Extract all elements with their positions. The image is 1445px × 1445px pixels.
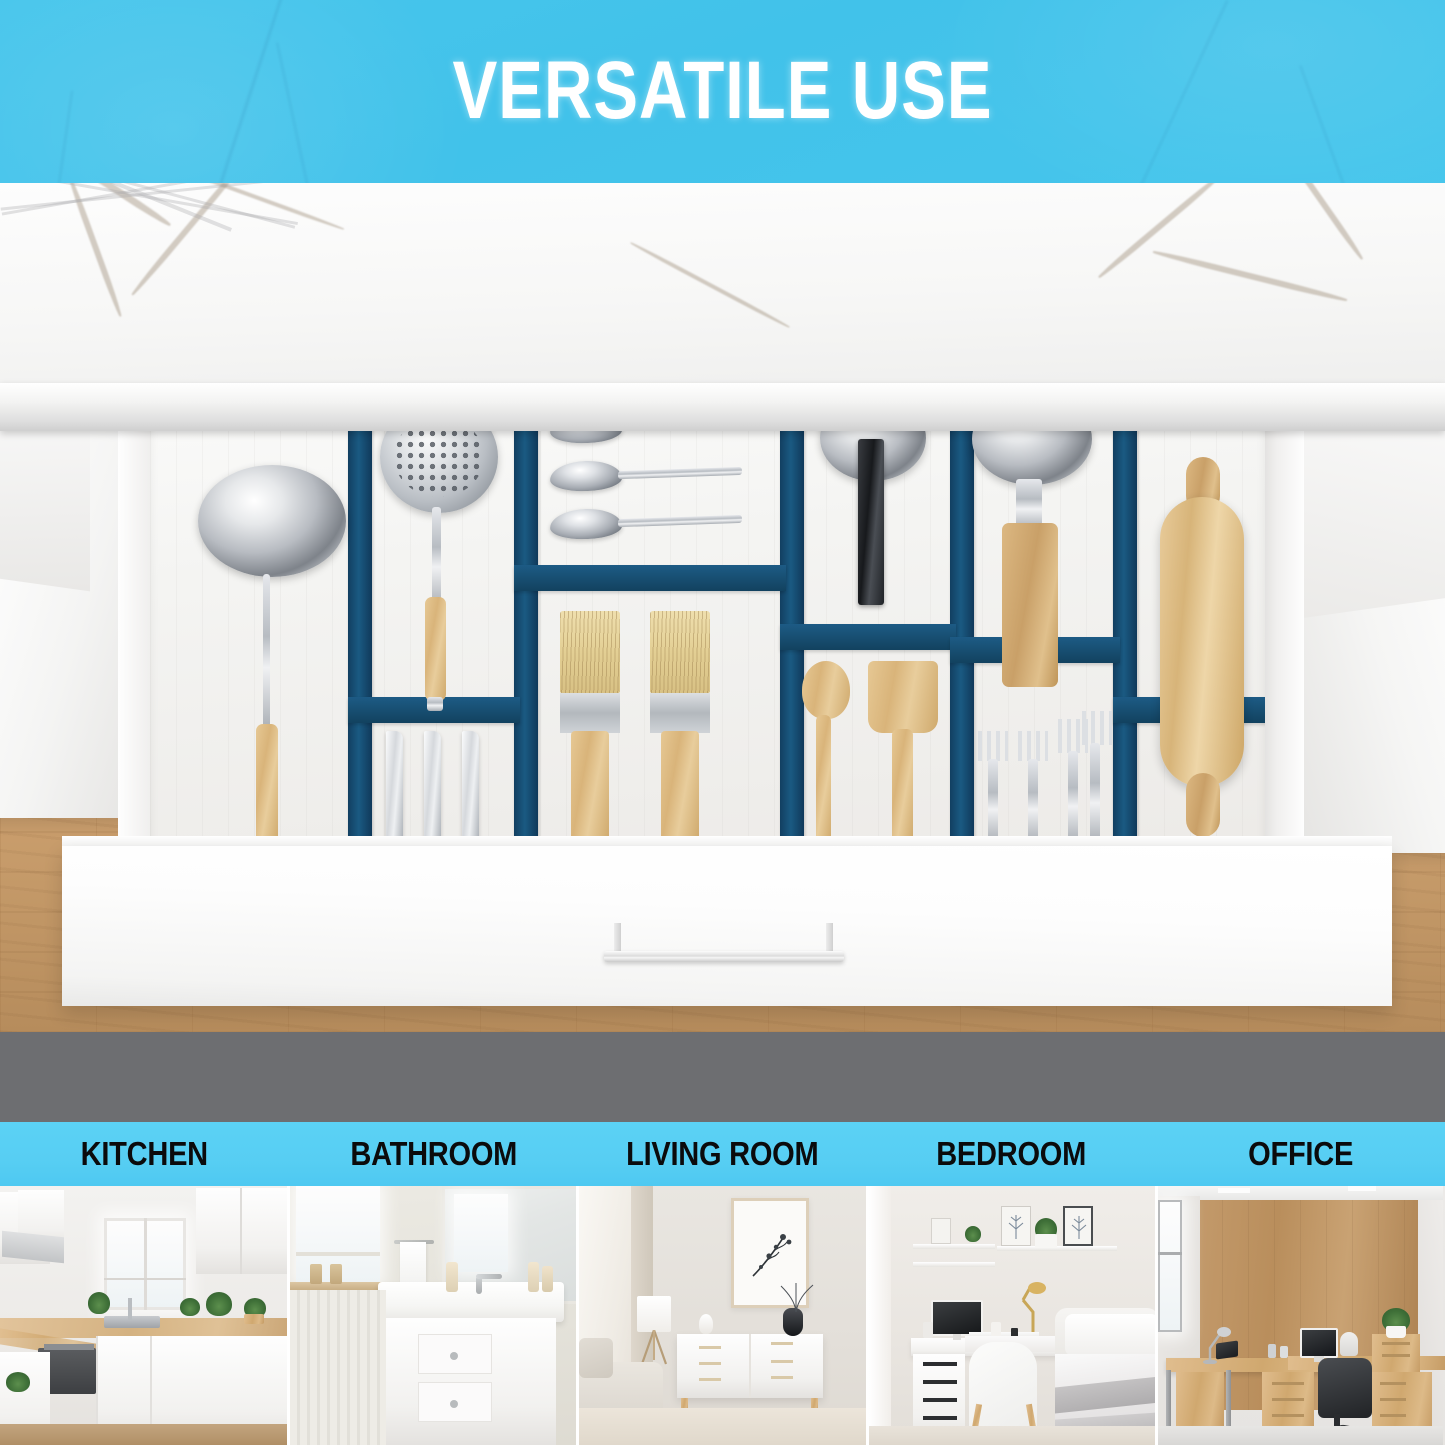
wooden-spatula-handle [892, 729, 913, 843]
hero-product-photo [0, 183, 1445, 1032]
skimmer-wood-grip [425, 597, 446, 701]
product-marketing-image: VERSATILE USE [0, 0, 1445, 1445]
knife-blade [424, 731, 441, 839]
marble-countertop [0, 183, 1445, 383]
basting-brush-handle [661, 731, 699, 843]
skimmer-end-cap [427, 697, 443, 711]
room-label-bathroom: BATHROOM [289, 1122, 578, 1186]
knife-blade [386, 731, 403, 839]
room-label-text: OFFICE [1248, 1135, 1353, 1173]
rolling-pin-knob-bottom [1186, 773, 1220, 837]
soup-ladle-neck [1016, 479, 1042, 529]
divider-vertical [780, 379, 804, 849]
room-label-text: LIVING ROOM [626, 1135, 818, 1173]
drawer-front-panel [62, 846, 1392, 1006]
room-label-strip: KITCHEN BATHROOM LIVING ROOM BEDROOM OFF… [0, 1122, 1445, 1186]
drawer-handle-post [826, 923, 833, 953]
basting-brush-bristles [560, 611, 620, 693]
room-label-text: BEDROOM [937, 1135, 1087, 1173]
room-label-text: KITCHEN [81, 1135, 208, 1173]
wooden-spatula-head [868, 661, 938, 733]
basting-brush-ferrule [560, 693, 620, 733]
countertop-edge [0, 383, 1445, 431]
soup-ladle-wood-grip [1002, 523, 1058, 687]
wooden-spoon-head [802, 661, 850, 719]
divider-vertical [950, 379, 974, 849]
room-photo-row [0, 1186, 1445, 1445]
room-label-office: OFFICE [1156, 1122, 1445, 1186]
divider-vertical [1113, 379, 1137, 849]
header-title: VERSATILE USE [130, 50, 1315, 132]
fork-tines [1082, 711, 1112, 745]
knife-blade [462, 731, 479, 839]
marble-vein [49, 91, 73, 183]
wooden-spoon-handle [816, 715, 831, 843]
room-label-kitchen: KITCHEN [0, 1122, 289, 1186]
basting-brush-bristles [650, 611, 710, 693]
room-label-text: BATHROOM [350, 1135, 517, 1173]
fork-handle [1090, 743, 1100, 843]
rolling-pin-body [1160, 497, 1244, 787]
room-photo-bedroom [869, 1186, 1156, 1445]
divider-vertical [348, 379, 372, 849]
divider-horizontal [780, 624, 956, 650]
basting-brush-handle [571, 731, 609, 843]
room-photo-kitchen [0, 1186, 287, 1445]
divider-vertical [514, 379, 538, 849]
divider-horizontal [514, 565, 786, 591]
drawer-handle-post [614, 923, 621, 953]
fork-tines [1018, 731, 1048, 761]
skimmer-handle [432, 507, 441, 607]
drawer-handle[interactable] [604, 951, 844, 962]
fork-handle [1068, 751, 1078, 843]
room-photo-living-room [579, 1186, 866, 1445]
basting-brush-ferrule [650, 693, 710, 733]
beautiful-look-band: BEAUTIFUL LOOK [0, 1032, 1445, 1122]
room-label-living-room: LIVING ROOM [578, 1122, 867, 1186]
room-photo-office [1158, 1186, 1445, 1445]
fork-tines [978, 731, 1008, 761]
room-label-bedroom: BEDROOM [867, 1122, 1156, 1186]
pizza-cutter-handle [858, 439, 884, 605]
fork-handle [988, 759, 998, 843]
ladle-wood-grip [256, 724, 278, 844]
room-photo-bathroom [290, 1186, 577, 1445]
fork-handle [1028, 759, 1038, 843]
botanical-art-icon [745, 1224, 799, 1284]
drawer-interior [150, 379, 1265, 869]
ladle-bowl-icon [198, 465, 346, 577]
ladle-handle [263, 574, 270, 730]
header-banner: VERSATILE USE [0, 0, 1445, 183]
